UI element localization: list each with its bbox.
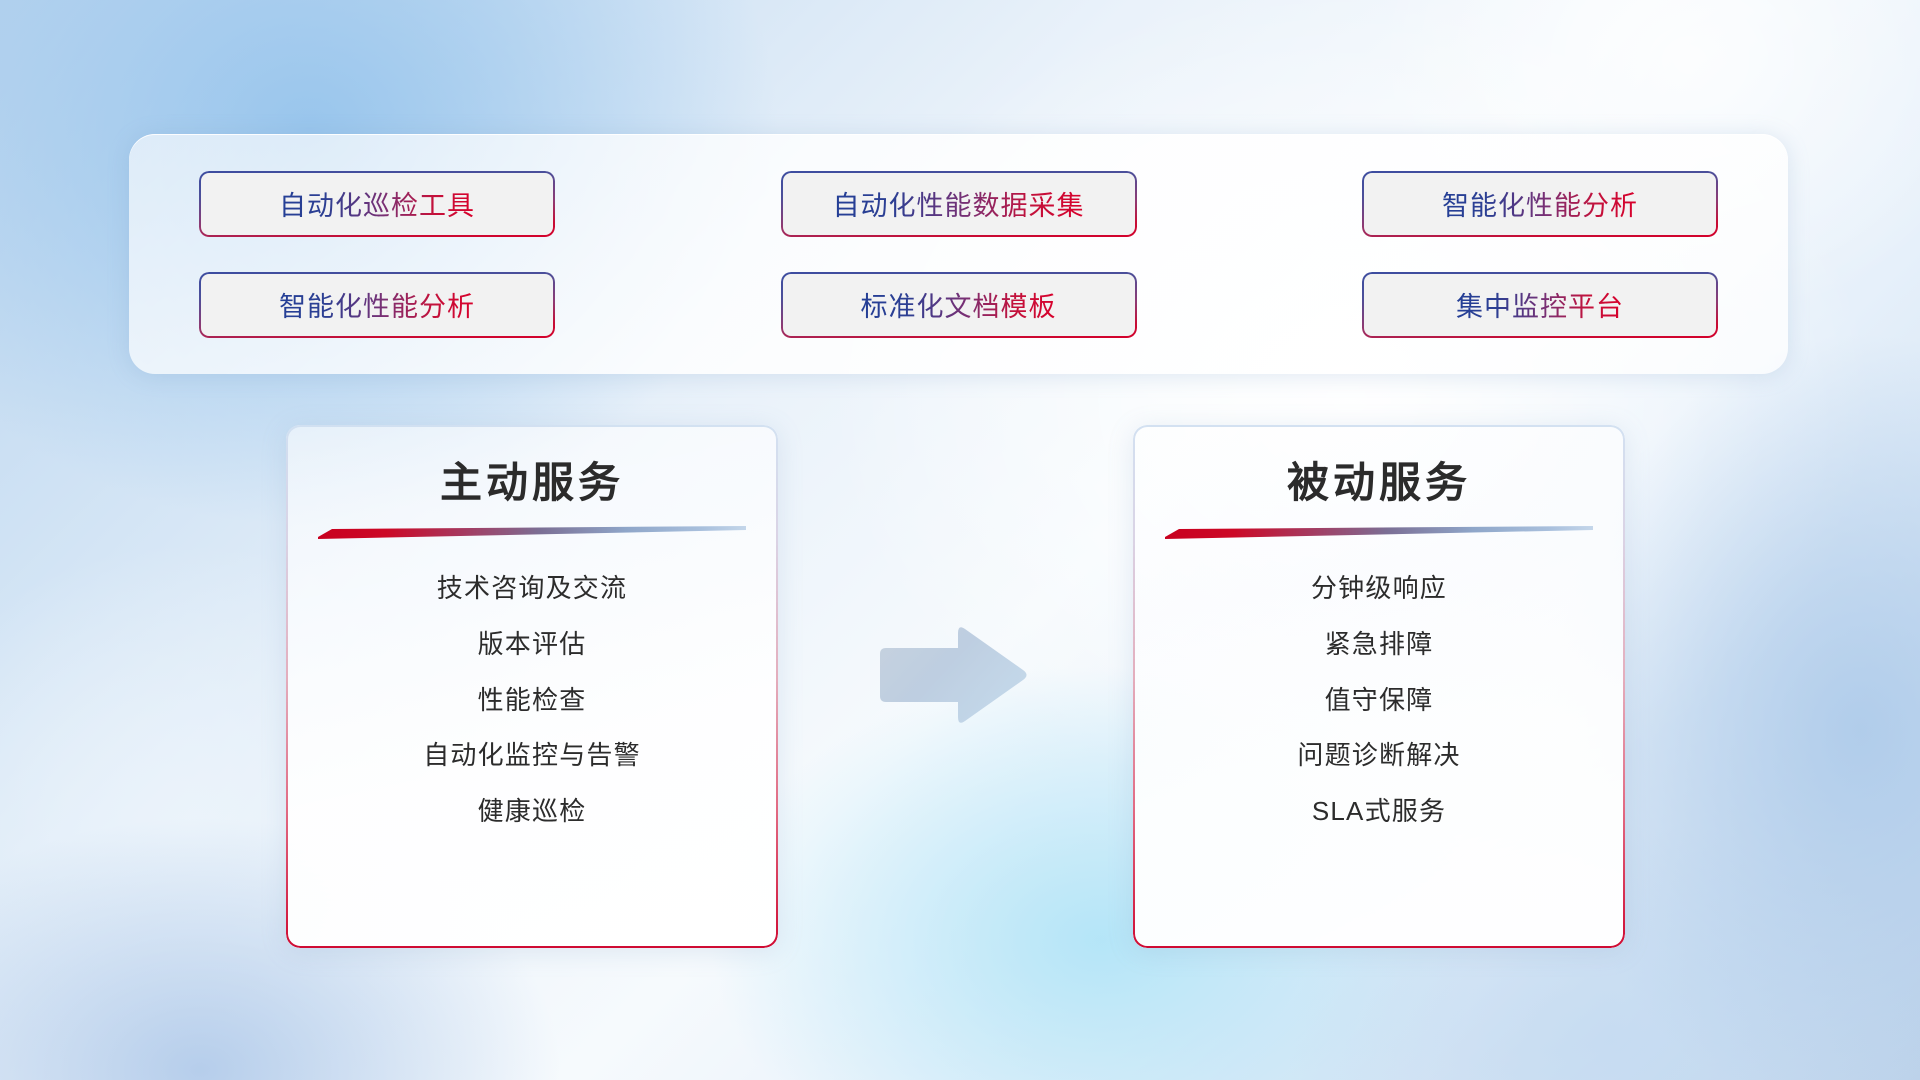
capability-pill-automated-inspection-tool[interactable]: 自动化巡检工具: [199, 171, 555, 237]
capability-pill-label: 自动化巡检工具: [279, 184, 475, 223]
list-item: 紧急排障: [1325, 628, 1434, 662]
capabilities-row-2: 智能化性能分析 标准化文档模板 集中监控平台: [199, 272, 1718, 338]
capability-pill-standardized-document-template[interactable]: 标准化文档模板: [781, 272, 1137, 338]
capabilities-row-1: 自动化巡检工具 自动化性能数据采集 智能化性能分析: [199, 171, 1718, 237]
list-item: 分钟级响应: [1311, 572, 1447, 606]
capability-pill-label: 标准化文档模板: [861, 285, 1057, 324]
capability-pill-label: 自动化性能数据采集: [833, 184, 1085, 223]
capability-pill-label: 智能化性能分析: [1442, 184, 1638, 223]
list-item: 问题诊断解决: [1297, 739, 1460, 773]
list-item: SLA式服务: [1312, 795, 1446, 829]
card-content: 主动服务: [286, 425, 778, 948]
service-card-proactive[interactable]: 主动服务: [286, 425, 778, 948]
capability-pill-intelligent-performance-analysis-1[interactable]: 智能化性能分析: [1362, 171, 1718, 237]
capability-pill-label: 智能化性能分析: [279, 285, 475, 324]
list-item: 值守保障: [1325, 684, 1434, 718]
card-title-divider: [1165, 526, 1593, 540]
slide-canvas: 自动化巡检工具 自动化性能数据采集 智能化性能分析 智能化性能分析 标准化文档模…: [0, 0, 1920, 1080]
capability-pill-label: 集中监控平台: [1456, 285, 1624, 324]
list-item: 技术咨询及交流: [437, 572, 627, 606]
card-title: 主动服务: [440, 459, 624, 506]
card-title-divider: [318, 526, 746, 540]
capability-pill-intelligent-performance-analysis-2[interactable]: 智能化性能分析: [199, 272, 555, 338]
arrow-right-icon: [872, 620, 1032, 730]
capabilities-panel: 自动化巡检工具 自动化性能数据采集 智能化性能分析 智能化性能分析 标准化文档模…: [129, 134, 1788, 374]
service-card-reactive[interactable]: 被动服务: [1133, 425, 1625, 948]
list-item: 版本评估: [478, 628, 587, 662]
card-title: 被动服务: [1287, 459, 1471, 506]
list-item: 健康巡检: [478, 795, 587, 829]
card-content: 被动服务: [1133, 425, 1625, 948]
capability-pill-centralized-monitoring-platform[interactable]: 集中监控平台: [1362, 272, 1718, 338]
list-item: 性能检查: [478, 684, 587, 718]
capability-pill-automated-performance-data-collection[interactable]: 自动化性能数据采集: [781, 171, 1137, 237]
list-item: 自动化监控与告警: [423, 739, 641, 773]
card-item-list: 分钟级响应 紧急排障 值守保障 问题诊断解决 SLA式服务: [1133, 572, 1625, 829]
card-item-list: 技术咨询及交流 版本评估 性能检查 自动化监控与告警 健康巡检: [286, 572, 778, 829]
